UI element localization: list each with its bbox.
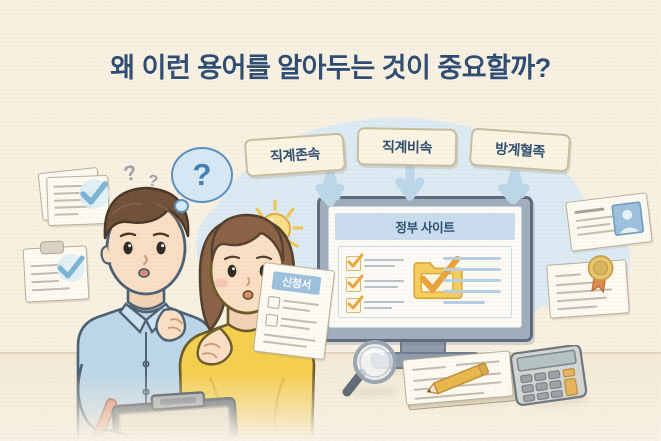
arrow-down-icon-2 [390, 166, 430, 202]
checklist-row[interactable] [346, 298, 408, 313]
term-tag-3-label: 방계혈족 [494, 138, 545, 161]
site-content-panel [338, 246, 512, 318]
term-tag-3[interactable]: 방계혈족 [469, 128, 571, 173]
certificate-seal-icon [546, 259, 630, 318]
thought-bubble-dot [174, 199, 189, 213]
check-icon [346, 274, 364, 292]
check-icon [346, 253, 364, 271]
term-tag-2[interactable]: 직계비속 [357, 127, 458, 167]
illustration-canvas: 왜 이런 용어를 알아두는 것이 중요할까? 직계존속 직계비속 방계혈족 [0, 0, 661, 441]
portrait-icon [611, 201, 645, 236]
monitor-screen: 정부 사이트 [328, 206, 522, 328]
magnifier-icon [342, 340, 404, 400]
calculator-icon [508, 345, 590, 411]
checklist-row[interactable] [346, 256, 408, 271]
term-tag-1[interactable]: 직계존속 [244, 133, 346, 178]
question-mark-large: ? [173, 149, 231, 201]
form-checkbox[interactable] [267, 296, 280, 309]
application-form: 신청서 [253, 262, 335, 360]
folder-check-icon [411, 256, 465, 300]
term-tag-2-label: 직계비속 [382, 137, 432, 158]
check-icon [346, 295, 364, 313]
checklist-row[interactable] [346, 277, 408, 292]
term-tag-1-label: 직계존속 [269, 143, 320, 166]
monitor: 정부 사이트 [317, 196, 533, 342]
page-title: 왜 이런 용어를 알아두는 것이 중요할까? [0, 46, 661, 85]
thought-bubble-large: ? [171, 147, 233, 203]
site-header-label: 정부 사이트 [395, 217, 454, 236]
notepad-icon [402, 350, 514, 405]
ribbon-seal-icon [580, 251, 623, 296]
arrow-down-icon-3 [485, 170, 545, 204]
form-checkbox[interactable] [265, 314, 278, 327]
man-hand [156, 309, 185, 340]
site-header-bar: 정부 사이트 [335, 213, 515, 240]
pencil-icon [419, 357, 504, 400]
id-card-icon [565, 192, 652, 252]
application-form-label: 신청서 [272, 271, 322, 295]
